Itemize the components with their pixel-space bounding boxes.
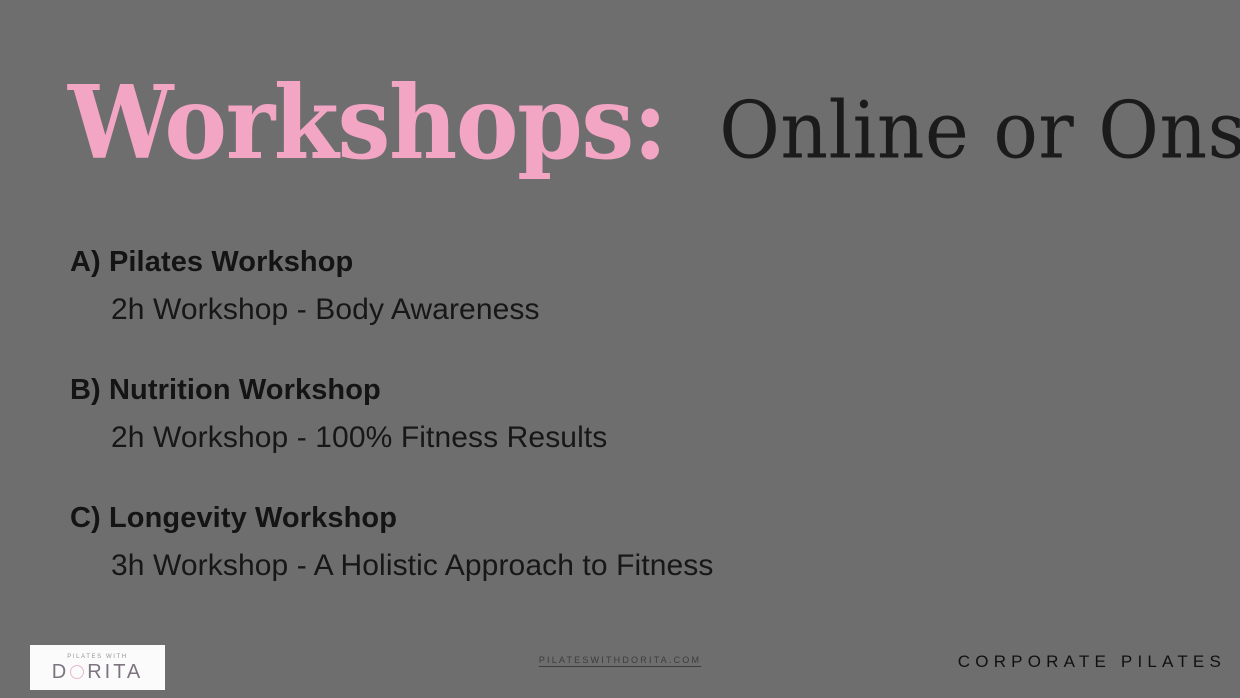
list-item: C) Longevity Workshop 3h Workshop - A Ho… [0,502,1240,584]
page-title-subtitle: Online or Onsite [719,92,1240,170]
corporate-pilates-label: CORPORATE PILATES [958,652,1226,672]
workshop-heading-c: C) Longevity Workshop [0,502,1240,535]
brand-logo: PILATES WITH D RITA [30,645,165,690]
page-title-accent: Workshops: [68,72,666,173]
circle-icon [70,665,84,679]
list-item: A) Pilates Workshop 2h Workshop - Body A… [0,246,1240,328]
workshop-detail-b: 2h Workshop - 100% Fitness Results [0,421,1240,456]
workshop-detail-c: 3h Workshop - A Holistic Approach to Fit… [0,549,1240,584]
workshop-detail-a: 2h Workshop - Body Awareness [0,293,1240,328]
page-title: Workshops: Online or Onsite [68,72,1240,173]
workshop-list: A) Pilates Workshop 2h Workshop - Body A… [0,246,1240,584]
list-item: B) Nutrition Workshop 2h Workshop - 100%… [0,374,1240,456]
workshop-heading-a: A) Pilates Workshop [0,246,1240,279]
slide-canvas: Workshops: Online or Onsite A) Pilates W… [0,0,1240,698]
workshop-heading-b: B) Nutrition Workshop [0,374,1240,407]
